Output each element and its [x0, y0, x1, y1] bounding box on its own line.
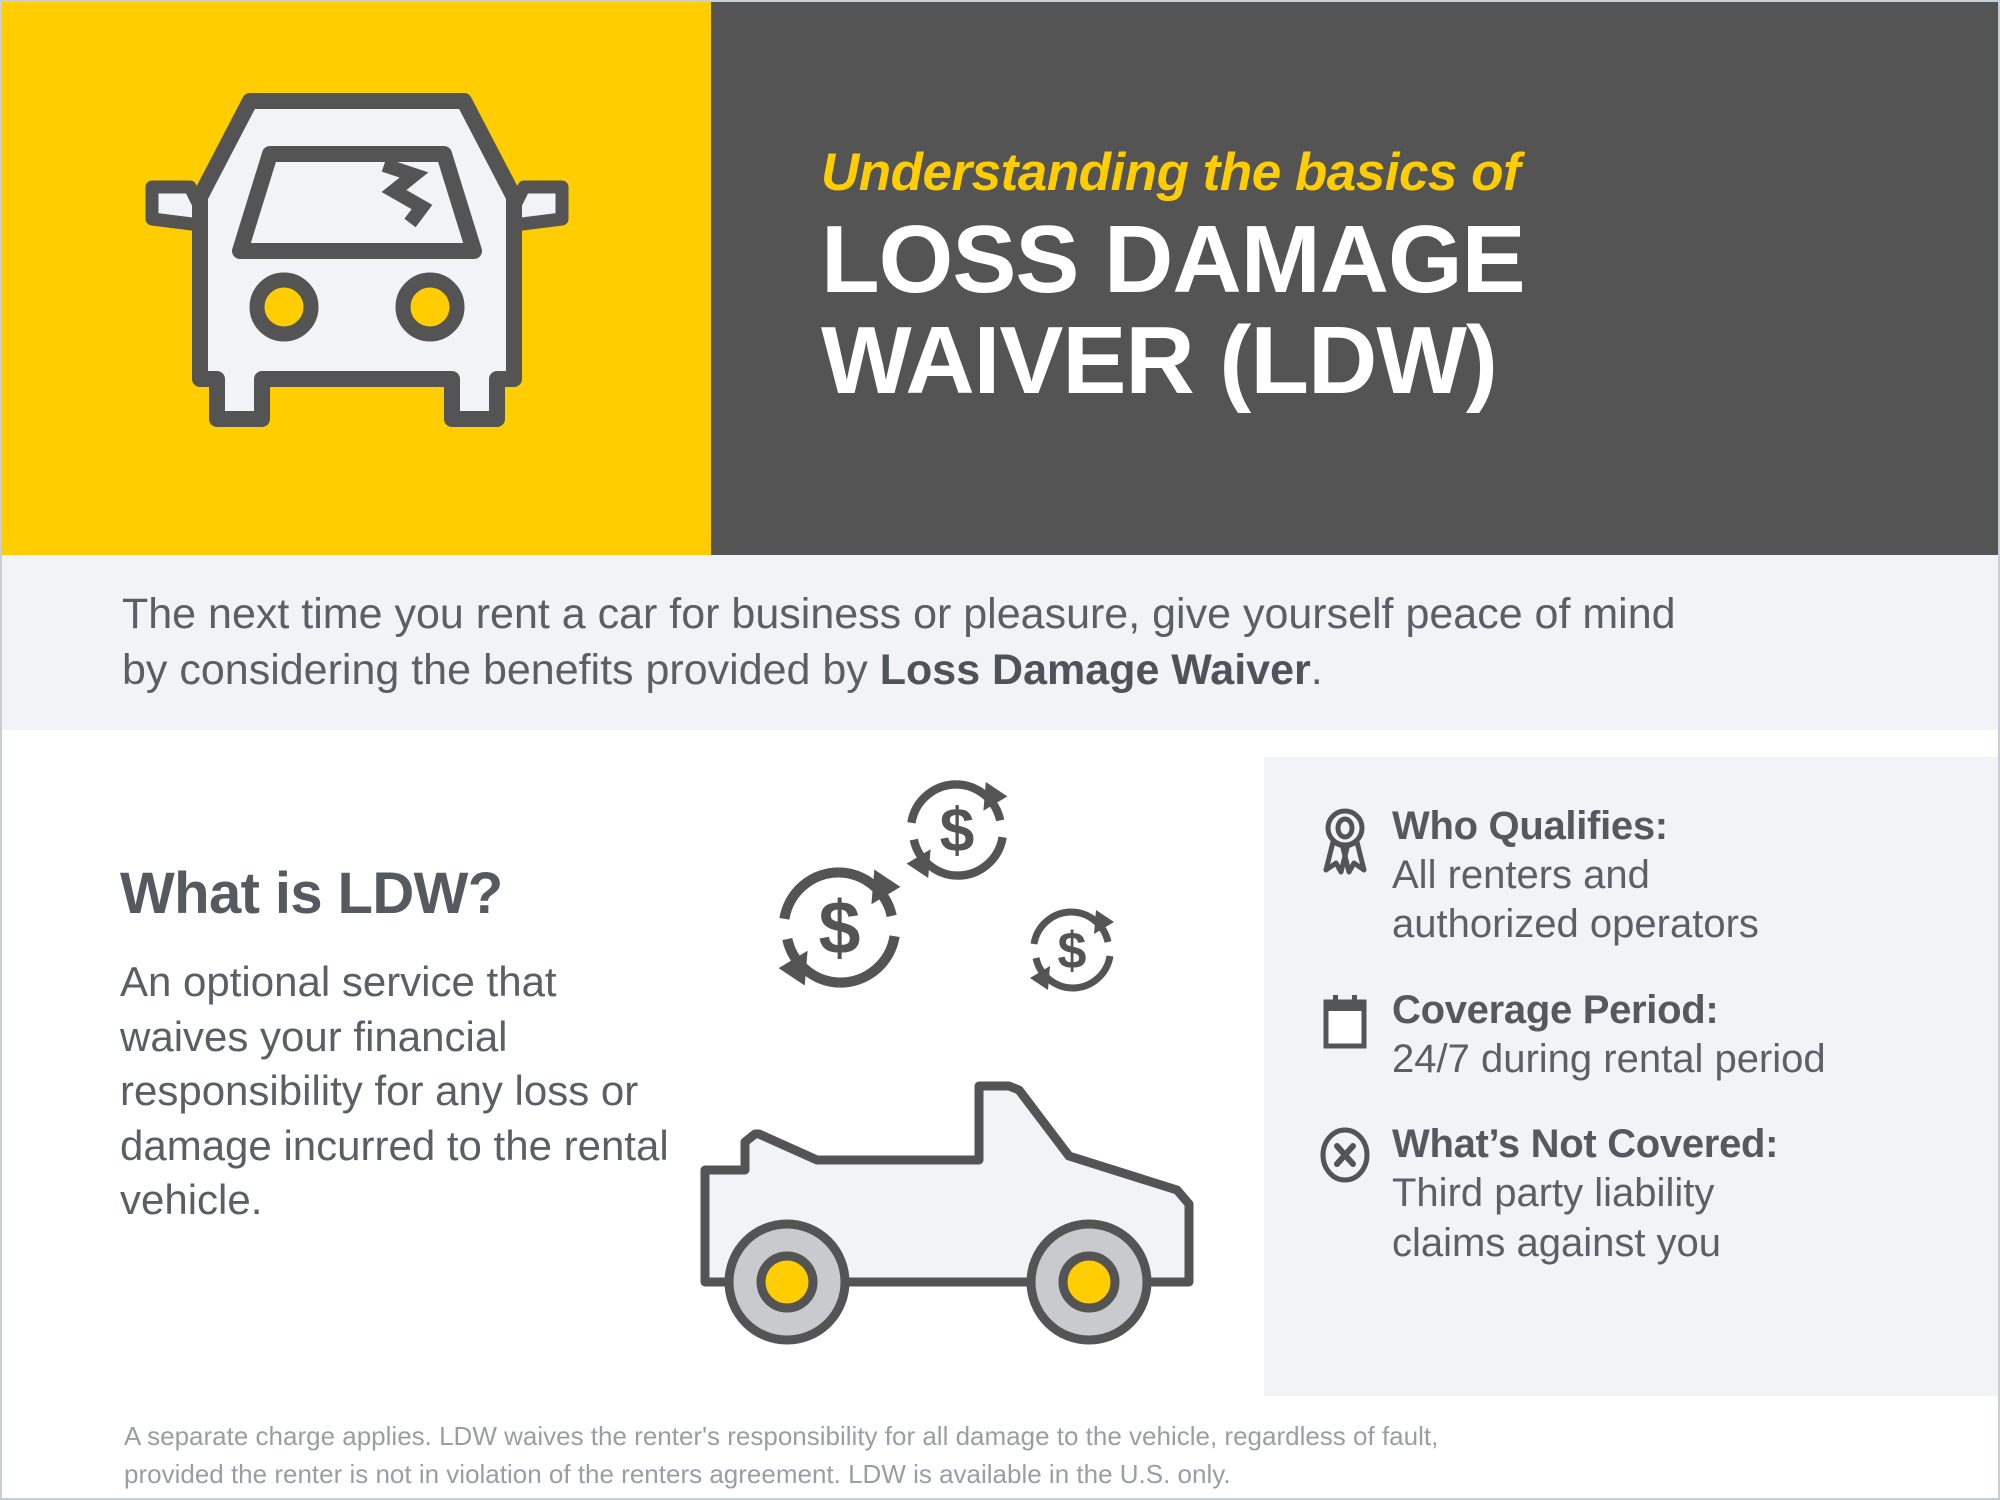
page-title: LOSS DAMAGE WAIVER (LDW): [821, 209, 1962, 413]
fact-label: Coverage Period:: [1392, 986, 1960, 1035]
dollar-refresh-icon: $: [767, 855, 912, 1000]
calendar-icon: [1306, 986, 1384, 1056]
header-illustration-panel: [2, 2, 711, 555]
svg-text:$: $: [819, 886, 861, 970]
infographic-root: Understanding the basics of LOSS DAMAGE …: [0, 0, 2000, 1500]
fact-value-line1: 24/7 during rental period: [1392, 1035, 1960, 1085]
intro-band: The next time you rent a car for busines…: [2, 555, 2000, 730]
section-title-what-is-ldw: What is LDW?: [120, 860, 680, 927]
footer-line1: A separate charge applies. LDW waives th…: [124, 1421, 1438, 1451]
svg-text:$: $: [940, 797, 975, 866]
fact-row-not-covered: What’s Not Covered: Third party liabilit…: [1306, 1120, 1960, 1268]
intro-line1: The next time you rent a car for busines…: [122, 590, 1676, 638]
fact-row-who-qualifies: Who Qualifies: All renters and authorize…: [1306, 802, 1960, 950]
fact-text-coverage-period: Coverage Period: 24/7 during rental peri…: [1384, 986, 1960, 1084]
fact-value-line1: Third party liability: [1392, 1169, 1960, 1219]
fact-label: What’s Not Covered:: [1392, 1120, 1960, 1169]
pickup-truck-icon: [687, 1060, 1207, 1360]
facts-panel: Who Qualifies: All renters and authorize…: [1264, 757, 2000, 1403]
fact-value-line1: All renters and: [1392, 851, 1960, 901]
footer-line2: provided the renter is not in violation …: [124, 1459, 1231, 1489]
intro-line2-prefix: by considering the benefits provided by: [122, 646, 880, 694]
page-title-line1: LOSS DAMAGE: [821, 209, 1962, 311]
intro-line2-bold: Loss Damage Waiver: [880, 646, 1311, 694]
fact-value-line2: authorized operators: [1392, 900, 1960, 950]
circle-x-icon: [1306, 1120, 1384, 1186]
fact-text-not-covered: What’s Not Covered: Third party liabilit…: [1384, 1120, 1960, 1268]
header-banner: Understanding the basics of LOSS DAMAGE …: [2, 2, 2000, 555]
header-kicker: Understanding the basics of: [821, 145, 1962, 201]
center-illustration: $ $ $: [682, 740, 1242, 1360]
award-ribbon-icon: [1306, 802, 1384, 876]
section-body-what-is-ldw: An optional service that waives your fin…: [120, 955, 680, 1228]
dollar-refresh-icon: $: [1022, 900, 1122, 1000]
damaged-car-front-icon: [122, 79, 592, 479]
header-text-panel: Understanding the basics of LOSS DAMAGE …: [711, 2, 2000, 555]
intro-line2-suffix: .: [1311, 646, 1323, 694]
fact-label: Who Qualifies:: [1392, 802, 1960, 851]
footer-disclaimer: A separate charge applies. LDW waives th…: [2, 1396, 2000, 1500]
footer-text: A separate charge applies. LDW waives th…: [124, 1418, 1882, 1493]
main-content: What is LDW? An optional service that wa…: [2, 730, 2000, 1396]
page-title-line2: WAIVER (LDW): [821, 310, 1962, 412]
fact-value-line2: claims against you: [1392, 1219, 1960, 1269]
what-is-ldw-section: What is LDW? An optional service that wa…: [120, 860, 680, 1228]
dollar-refresh-icon: $: [897, 770, 1017, 890]
fact-text-who-qualifies: Who Qualifies: All renters and authorize…: [1384, 802, 1960, 950]
svg-text:$: $: [1058, 922, 1087, 980]
intro-text: The next time you rent a car for busines…: [122, 587, 1676, 699]
fact-row-coverage-period: Coverage Period: 24/7 during rental peri…: [1306, 986, 1960, 1084]
